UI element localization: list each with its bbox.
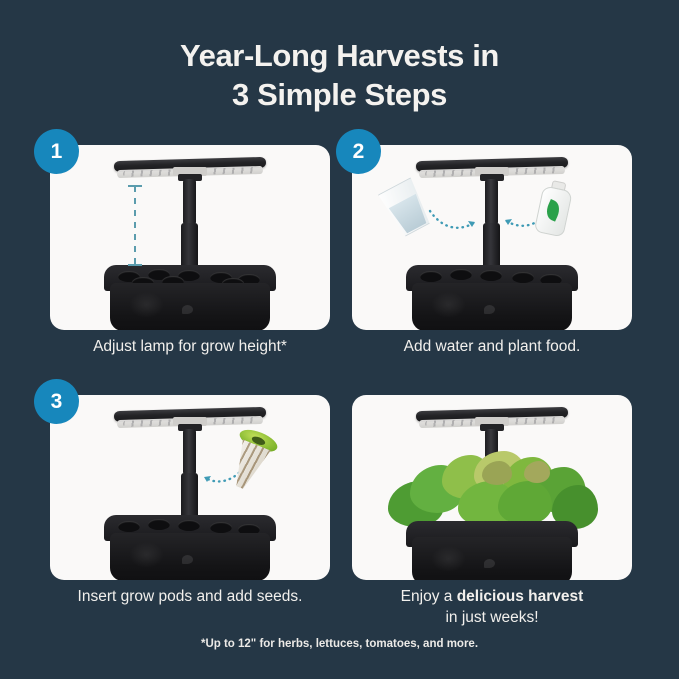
brand-logo-icon xyxy=(182,305,193,314)
caption-prefix: Enjoy a xyxy=(401,588,457,605)
title-line-2: 3 Simple Steps xyxy=(0,75,679,114)
lamp-pole-lower-icon xyxy=(181,223,198,271)
pod-hole-icon xyxy=(178,520,200,531)
water-glass-icon xyxy=(377,177,436,240)
pod-hole-icon xyxy=(450,269,472,280)
brand-logo-icon xyxy=(484,305,495,314)
step-card-2-panel xyxy=(352,145,632,330)
leaf-icon xyxy=(524,461,550,483)
product-illustration-1 xyxy=(50,145,330,330)
infographic-root: Year-Long Harvests in 3 Simple Steps xyxy=(0,0,679,679)
pod-hole-icon xyxy=(420,271,442,282)
product-illustration-2 xyxy=(352,145,632,330)
step-card-1-panel xyxy=(50,145,330,330)
pod-hole-icon xyxy=(118,521,140,532)
brand-logo-icon xyxy=(182,555,193,564)
pod-hole-icon xyxy=(512,272,534,283)
footnote: *Up to 12" for herbs, lettuces, tomatoes… xyxy=(0,638,679,650)
step-badge-1: 1 xyxy=(34,129,79,174)
step-badge-2: 2 xyxy=(336,129,381,174)
product-illustration-3 xyxy=(50,395,330,580)
step-card-3-panel xyxy=(50,395,330,580)
result-card-4-panel xyxy=(352,395,632,580)
plant-food-bottle-icon xyxy=(533,178,576,237)
pour-water-arrow-icon xyxy=(428,205,482,235)
leaf-icon xyxy=(482,461,512,485)
lamp-pole-upper-icon xyxy=(485,179,498,225)
product-illustration-4 xyxy=(352,395,632,580)
height-ruler-icon xyxy=(128,183,142,267)
page-title: Year-Long Harvests in 3 Simple Steps xyxy=(0,36,679,114)
brand-logo-icon xyxy=(484,559,495,568)
pod-hole-icon xyxy=(210,522,232,533)
result-caption-4: Enjoy a delicious harvest in just weeks! xyxy=(332,587,652,629)
step-badge-3: 3 xyxy=(34,379,79,424)
title-line-1: Year-Long Harvests in xyxy=(180,38,499,73)
ruler-cap-bottom-icon xyxy=(128,264,142,266)
caption-emphasis: delicious harvest xyxy=(457,588,584,605)
step-caption-3: Insert grow pods and add seeds. xyxy=(30,587,350,608)
pod-hole-icon xyxy=(480,270,502,281)
ruler-dashed-line-icon xyxy=(134,186,136,264)
step-caption-2: Add water and plant food. xyxy=(332,337,652,358)
pod-hole-icon xyxy=(148,519,170,530)
lamp-pole-upper-icon xyxy=(183,179,196,225)
caption-suffix: in just weeks! xyxy=(445,609,538,626)
step-caption-1: Adjust lamp for grow height* xyxy=(30,337,350,358)
lamp-pole-upper-icon xyxy=(183,429,196,475)
